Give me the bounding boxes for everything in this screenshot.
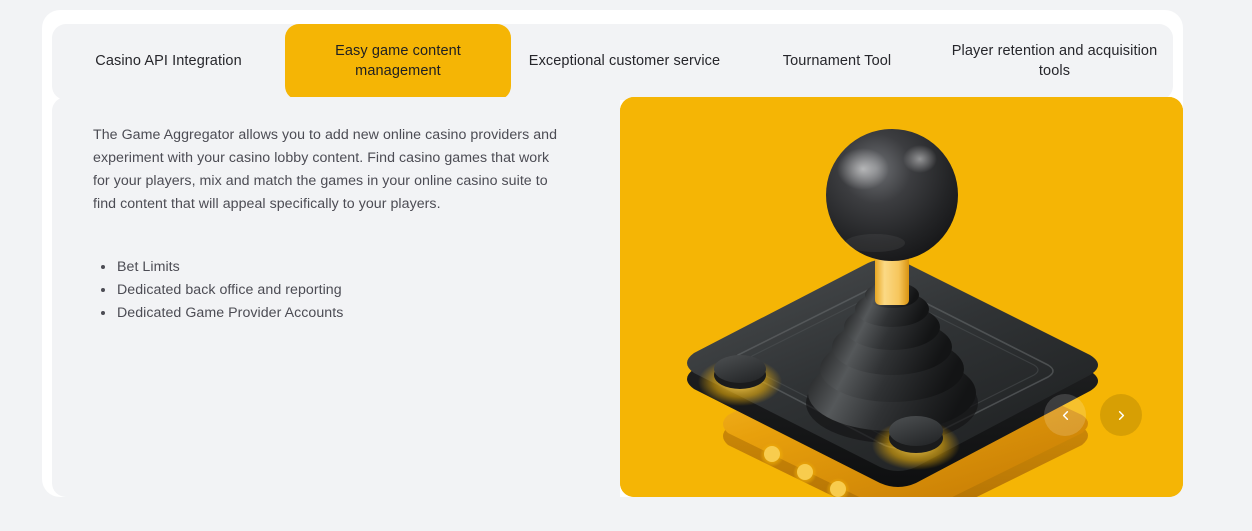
tab-tournament-tool[interactable]: Tournament Tool xyxy=(738,24,936,100)
list-item: Dedicated back office and reporting xyxy=(117,279,590,302)
description-paragraph: The Game Aggregator allows you to add ne… xyxy=(93,124,563,216)
tab-casino-api-integration[interactable]: Casino API Integration xyxy=(52,24,285,100)
joystick-illustration xyxy=(620,97,1183,497)
page-root: Casino API Integration Easy game content… xyxy=(0,0,1252,531)
joystick-ball xyxy=(826,129,958,261)
list-item: Dedicated Game Provider Accounts xyxy=(117,302,590,325)
tab-bar: Casino API Integration Easy game content… xyxy=(52,24,1173,100)
tab-exceptional-customer-service[interactable]: Exceptional customer service xyxy=(511,24,738,100)
tab-panel: The Game Aggregator allows you to add ne… xyxy=(52,97,1183,497)
chevron-left-icon xyxy=(1058,408,1073,423)
carousel-prev-button[interactable] xyxy=(1044,394,1086,436)
list-item: Bet Limits xyxy=(117,256,590,279)
tab-player-retention-and-acquisition-tools[interactable]: Player retention and acquisition tools xyxy=(936,24,1173,100)
feature-card: Casino API Integration Easy game content… xyxy=(42,10,1183,497)
media-panel xyxy=(620,97,1183,497)
feature-list: Bet Limits Dedicated back office and rep… xyxy=(93,256,590,325)
text-panel: The Game Aggregator allows you to add ne… xyxy=(52,97,620,497)
carousel-next-button[interactable] xyxy=(1100,394,1142,436)
tab-easy-game-content-management[interactable]: Easy game content management xyxy=(285,24,511,100)
chevron-right-icon xyxy=(1114,408,1129,423)
